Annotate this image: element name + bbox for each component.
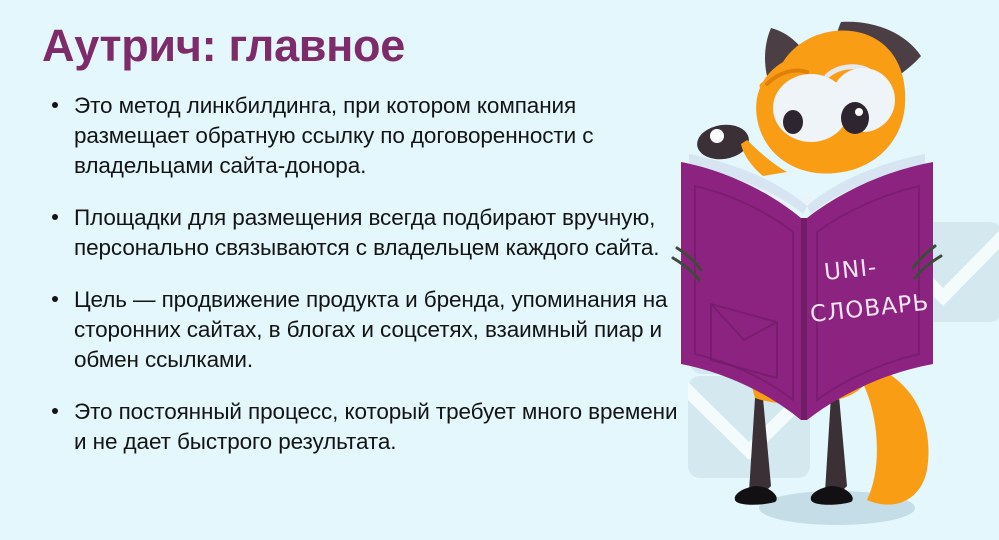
list-item: Цель — продвижение продукта и бренда, уп…: [42, 285, 690, 375]
list-item-text: Цель — продвижение продукта и бренда, уп…: [74, 287, 667, 372]
fox-pupil-right: [841, 102, 869, 134]
bullet-dot-icon: [52, 214, 58, 220]
list-item: Это метод линкбилдинга, при котором комп…: [42, 91, 690, 181]
fox-nose-highlight: [710, 129, 724, 143]
list-item-text: Площадки для размещения всегда подбирают…: [74, 205, 659, 260]
bullet-dot-icon: [52, 408, 58, 414]
list-item: Площадки для размещения всегда подбирают…: [42, 203, 690, 263]
bullet-list: Это метод линкбилдинга, при котором комп…: [42, 91, 690, 456]
fox-pupil-left: [783, 110, 803, 134]
list-item-text: Это постоянный процесс, который требует …: [74, 399, 677, 454]
page-title: Аутрич: главное: [42, 22, 690, 69]
bullet-dot-icon: [52, 102, 58, 108]
bullet-dot-icon: [52, 296, 58, 302]
fox-illustration-svg: UNI- СЛОВАРЬ: [659, 0, 999, 540]
list-item-text: Это метод линкбилдинга, при котором комп…: [74, 93, 593, 178]
text-column: Аутрич: главное Это метод линкбилдинга, …: [0, 0, 700, 540]
book-title-line1: UNI-: [823, 255, 879, 286]
fox-reading-illustration: UNI- СЛОВАРЬ: [659, 0, 999, 540]
fox-head: [695, 22, 921, 176]
list-item: Это постоянный процесс, который требует …: [42, 397, 690, 457]
fox-nose: [695, 122, 751, 163]
fox-eye-glint: [855, 108, 863, 116]
slide-root: Аутрич: главное Это метод линкбилдинга, …: [0, 0, 999, 540]
